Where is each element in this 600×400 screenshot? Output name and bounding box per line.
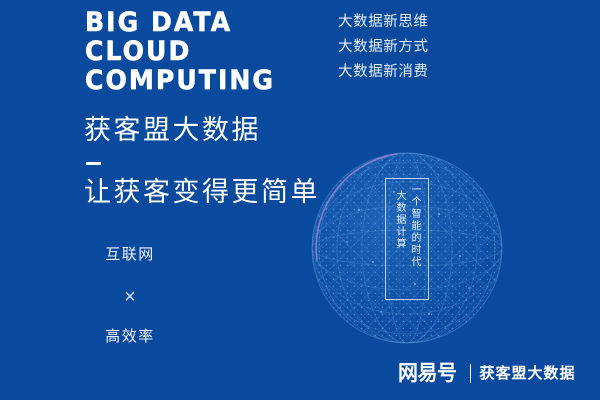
keyword-bottom: 高效率 (88, 327, 172, 347)
sphere-label-column-right: 一个智能的时代 (408, 184, 420, 268)
brand-account-name: 获客盟大数据 (480, 364, 576, 384)
headline-line-1: 获客盟大数据 (84, 113, 320, 147)
tagline-item-2: 大数据新方式 (338, 35, 429, 60)
keyword-block: 互联网 × 高效率 (88, 245, 172, 347)
tagline-list: 大数据新思维 大数据新方式 大数据新消费 (338, 10, 429, 85)
main-headline: 获客盟大数据 让获客变得更简单 (84, 113, 320, 209)
poster-canvas: BIG DATA CLOUD COMPUTING 大数据新思维 大数据新方式 大… (0, 0, 600, 400)
sphere-label-column-left: 大数据计算 (393, 184, 405, 250)
brand-separator (470, 364, 471, 383)
english-title-line-2: CLOUD (85, 37, 308, 66)
multiply-icon: × (88, 287, 172, 307)
footer-brand: 网易号 获客盟大数据 (398, 362, 576, 385)
sphere-vertical-label: 一个智能的时代 大数据计算 (385, 178, 429, 300)
brand-logo-text: 网易号 (398, 362, 456, 385)
headline-divider (86, 162, 101, 165)
keyword-top: 互联网 (88, 245, 172, 265)
english-title: BIG DATA CLOUD COMPUTING (85, 8, 325, 95)
english-title-line-1: BIG DATA (85, 8, 308, 37)
english-title-line-3: COMPUTING (85, 66, 308, 95)
tagline-item-1: 大数据新思维 (338, 10, 429, 35)
headline-line-2: 让获客变得更简单 (84, 175, 320, 209)
tagline-item-3: 大数据新消费 (338, 60, 429, 85)
